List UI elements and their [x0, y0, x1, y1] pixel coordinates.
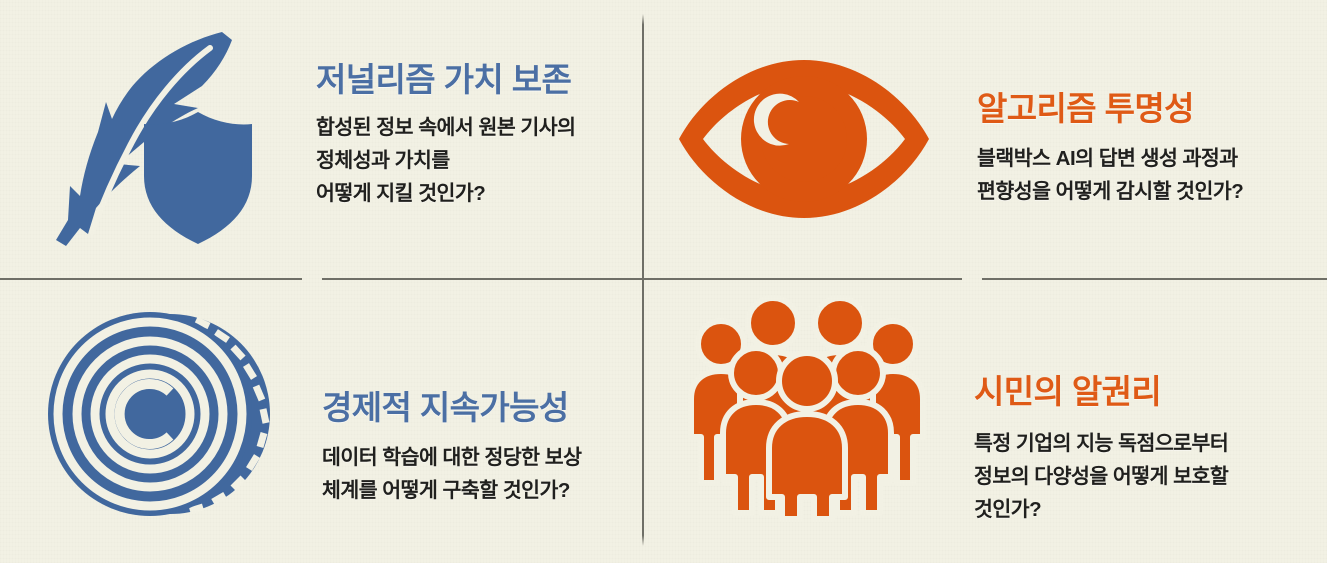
- card-body: 블랙박스 AI의 답변 생성 과정과 편향성을 어떻게 감시할 것인가?: [977, 142, 1327, 208]
- card-title: 저널리즘 가치 보존: [316, 62, 642, 99]
- quadrant-text-slot: 저널리즘 가치 보존 합성된 정보 속에서 원본 기사의 정체성과 가치를 어떻…: [270, 62, 642, 211]
- quadrant-text-slot: 시민의 알권리 특정 기업의 지능 독점으로부터 정보의 다양성을 어떻게 보호…: [938, 374, 1327, 527]
- eye-icon-slot: [666, 39, 941, 239]
- copyright-coin-icon: [46, 302, 270, 526]
- crowd-people-icon: [681, 297, 933, 523]
- quadrant-algorithm-transparency: 알고리즘 투명성 블랙박스 AI의 답변 생성 과정과 편향성을 어떻게 감시할…: [642, 0, 1327, 278]
- card-title: 알고리즘 투명성: [977, 91, 1327, 128]
- copyright-coin-icon-slot: [46, 302, 270, 526]
- quill-shield-icon-slot: [40, 24, 270, 254]
- quadrant-grid: 저널리즘 가치 보존 합성된 정보 속에서 원본 기사의 정체성과 가치를 어떻…: [0, 0, 1327, 563]
- quadrant-journalism-value-preservation: 저널리즘 가치 보존 합성된 정보 속에서 원본 기사의 정체성과 가치를 어떻…: [0, 0, 642, 278]
- crowd-people-icon-slot: [676, 294, 938, 526]
- card-body: 데이터 학습에 대한 정당한 보상 체계를 어떻게 구축할 것인가?: [322, 441, 642, 507]
- eye-icon: [673, 54, 935, 224]
- quadrant-economic-sustainability: 경제적 지속가능성 데이터 학습에 대한 정당한 보상 체계를 어떻게 구축할 …: [0, 278, 642, 563]
- card-title: 경제적 지속가능성: [322, 390, 642, 427]
- card-body: 특정 기업의 지능 독점으로부터 정보의 다양성을 어떻게 보호할 것인가?: [974, 427, 1327, 527]
- card-body: 합성된 정보 속에서 원본 기사의 정체성과 가치를 어떻게 지킬 것인가?: [316, 111, 642, 211]
- quadrant-citizens-right-to-know: 시민의 알권리 특정 기업의 지능 독점으로부터 정보의 다양성을 어떻게 보호…: [642, 278, 1327, 563]
- card-title: 시민의 알권리: [974, 374, 1327, 411]
- quill-shield-icon: [40, 24, 270, 254]
- quadrant-text-slot: 경제적 지속가능성 데이터 학습에 대한 정당한 보상 체계를 어떻게 구축할 …: [270, 390, 642, 507]
- quadrant-text-slot: 알고리즘 투명성 블랙박스 AI의 답변 생성 과정과 편향성을 어떻게 감시할…: [941, 91, 1327, 208]
